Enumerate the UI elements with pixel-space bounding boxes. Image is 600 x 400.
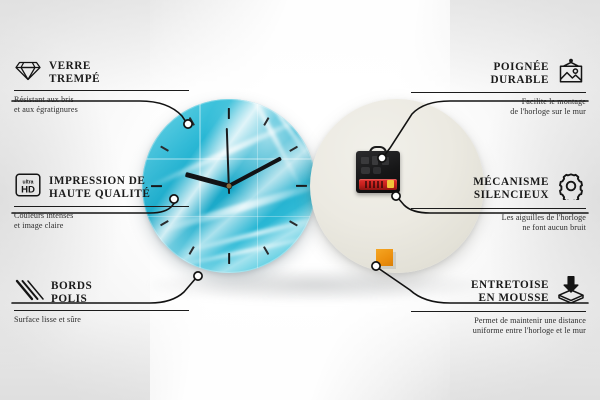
feature-description: Résistant aux briset aux égratignures <box>14 95 189 115</box>
feature-title: ENTRETOISEEN MOUSSE <box>471 279 549 304</box>
callout-dot-verre-trempe <box>184 120 192 128</box>
feature-header: ENTRETOISEEN MOUSSE <box>411 275 586 308</box>
feature-header: POIGNÉEDURABLE <box>411 58 586 89</box>
picture-hanger-icon <box>556 58 586 89</box>
feature-divider <box>14 90 189 91</box>
feature-title: MÉCANISMESILENCIEUX <box>473 176 549 201</box>
foam-spacer-arrow-icon <box>556 275 586 308</box>
feature-bords-polis[interactable]: BORDSPOLIS Surface lisse et sûre <box>14 278 189 325</box>
feature-title: IMPRESSION DEHAUTE QUALITÉ <box>49 175 150 200</box>
feature-divider <box>14 310 189 311</box>
feature-title: VERRETREMPÉ <box>49 60 100 85</box>
feature-verre-trempe[interactable]: VERRETREMPÉ Résistant aux briset aux égr… <box>14 58 189 115</box>
svg-text:HD: HD <box>21 184 35 195</box>
feature-divider <box>14 206 189 207</box>
feature-title: BORDSPOLIS <box>51 280 92 305</box>
feature-divider <box>411 311 586 312</box>
feature-header: VERRETREMPÉ <box>14 58 189 87</box>
callout-dot-mecanisme <box>392 192 400 200</box>
feature-divider <box>411 92 586 93</box>
feature-header: BORDSPOLIS <box>14 278 189 307</box>
feature-description: Facilite le montagede l'horloge sur le m… <box>411 97 586 117</box>
infographic-canvas: VERRETREMPÉ Résistant aux briset aux égr… <box>0 0 600 400</box>
feature-mecanisme-silencieux[interactable]: MÉCANISMESILENCIEUX Les aiguilles de l'h… <box>411 172 586 233</box>
feature-poignee-durable[interactable]: POIGNÉEDURABLE Facilite le montagede l'h… <box>411 58 586 117</box>
feature-header: ultra HD IMPRESSION DEHAUTE QUALITÉ <box>14 172 189 203</box>
callout-dot-poignee <box>378 154 386 162</box>
feature-description: Les aiguilles de l'horlogene font aucun … <box>411 213 586 233</box>
feature-divider <box>411 208 586 209</box>
callout-dot-bords-polis <box>194 272 202 280</box>
feature-title: POIGNÉEDURABLE <box>490 61 549 86</box>
gear-icon <box>556 172 586 205</box>
feature-impression-haute-qualite[interactable]: ultra HD IMPRESSION DEHAUTE QUALITÉ Coul… <box>14 172 189 231</box>
feature-description: Surface lisse et sûre <box>14 315 189 325</box>
polished-edge-lines-icon <box>14 278 44 307</box>
feature-entretoise-en-mousse[interactable]: ENTRETOISEEN MOUSSE Permet de maintenir … <box>411 275 586 336</box>
feature-header: MÉCANISMESILENCIEUX <box>411 172 586 205</box>
feature-description: Permet de maintenir une distanceuniforme… <box>411 316 586 336</box>
callout-dot-entretoise <box>372 262 380 270</box>
feature-description: Couleurs intenseset image claire <box>14 211 189 231</box>
diamond-icon <box>14 58 42 87</box>
ultra-hd-badge-icon: ultra HD <box>14 172 42 203</box>
